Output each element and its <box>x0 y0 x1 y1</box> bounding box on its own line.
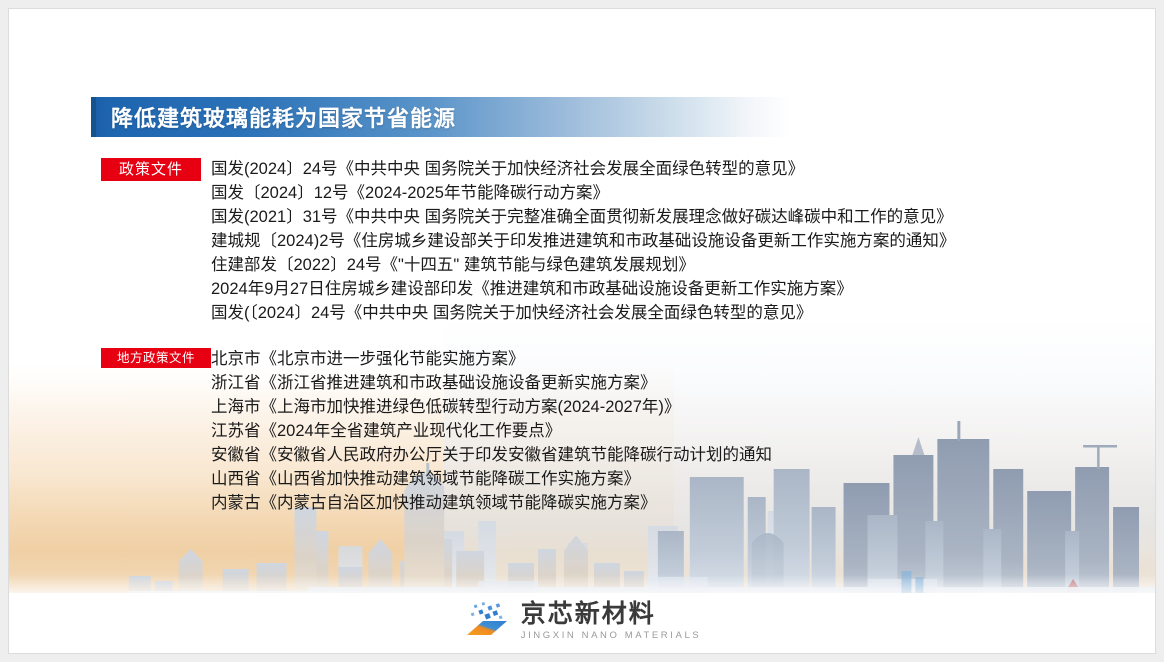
page-title: 降低建筑玻璃能耗为国家节省能源 <box>111 101 456 133</box>
slide-canvas: 降低建筑玻璃能耗为国家节省能源 政策文件 国发(2024〕24号《中共中央 国务… <box>8 8 1156 654</box>
gradient-rhombus-pixels-icon <box>463 601 511 641</box>
list-item: 上海市《上海市加快推进绿色低碳转型行动方案(2024-2027年)》 <box>211 395 772 419</box>
list-item: 国发(2024〕24号《中共中央 国务院关于加快经济社会发展全面绿色转型的意见》 <box>211 157 955 181</box>
list-item: 住建部发〔2022〕24号《"十四五" 建筑节能与绿色建筑发展规划》 <box>211 253 955 277</box>
list-item: 浙江省《浙江省推进建筑和市政基础设施设备更新实施方案》 <box>211 371 772 395</box>
list-item: 北京市《北京市进一步强化节能实施方案》 <box>211 347 772 371</box>
local-policy-list: 北京市《北京市进一步强化节能实施方案》 浙江省《浙江省推进建筑和市政基础设施设备… <box>211 347 772 515</box>
slide-title-bar: 降低建筑玻璃能耗为国家节省能源 <box>91 97 791 137</box>
national-policy-list: 国发(2024〕24号《中共中央 国务院关于加快经济社会发展全面绿色转型的意见》… <box>211 157 955 325</box>
logo-name-cn: 京芯新材料 <box>521 602 702 627</box>
list-item: 江苏省《2024年全省建筑产业现代化工作要点》 <box>211 419 772 443</box>
list-item: 内蒙古《内蒙古自治区加快推动建筑领域节能降碳实施方案》 <box>211 491 772 515</box>
list-item: 2024年9月27日住房城乡建设部印发《推进建筑和市政基础设施设备更新工作实施方… <box>211 277 955 301</box>
logo-name-en: JINGXIN NANO MATERIALS <box>521 631 702 641</box>
list-item: 国发(2021〕31号《中共中央 国务院关于完整准确全面贯彻新发展理念做好碳达峰… <box>211 205 955 229</box>
badge-local-policy: 地方政策文件 <box>101 348 211 368</box>
list-item: 建城规〔2024)2号《住房城乡建设部关于印发推进建筑和市政基础设施设备更新工作… <box>211 229 955 253</box>
list-item: 国发(〔2024〕24号《中共中央 国务院关于加快经济社会发展全面绿色转型的意见… <box>211 301 955 325</box>
list-item: 山西省《山西省加快推动建筑领域节能降碳工作实施方案》 <box>211 467 772 491</box>
logo-text: 京芯新材料 JINGXIN NANO MATERIALS <box>521 602 702 641</box>
list-item: 国发〔2024〕12号《2024-2025年节能降碳行动方案》 <box>211 181 955 205</box>
badge-national-policy: 政策文件 <box>101 158 201 181</box>
company-logo: 京芯新材料 JINGXIN NANO MATERIALS <box>9 601 1155 641</box>
list-item: 安徽省《安徽省人民政府办公厅关于印发安徽省建筑节能降碳行动计划的通知 <box>211 443 772 467</box>
